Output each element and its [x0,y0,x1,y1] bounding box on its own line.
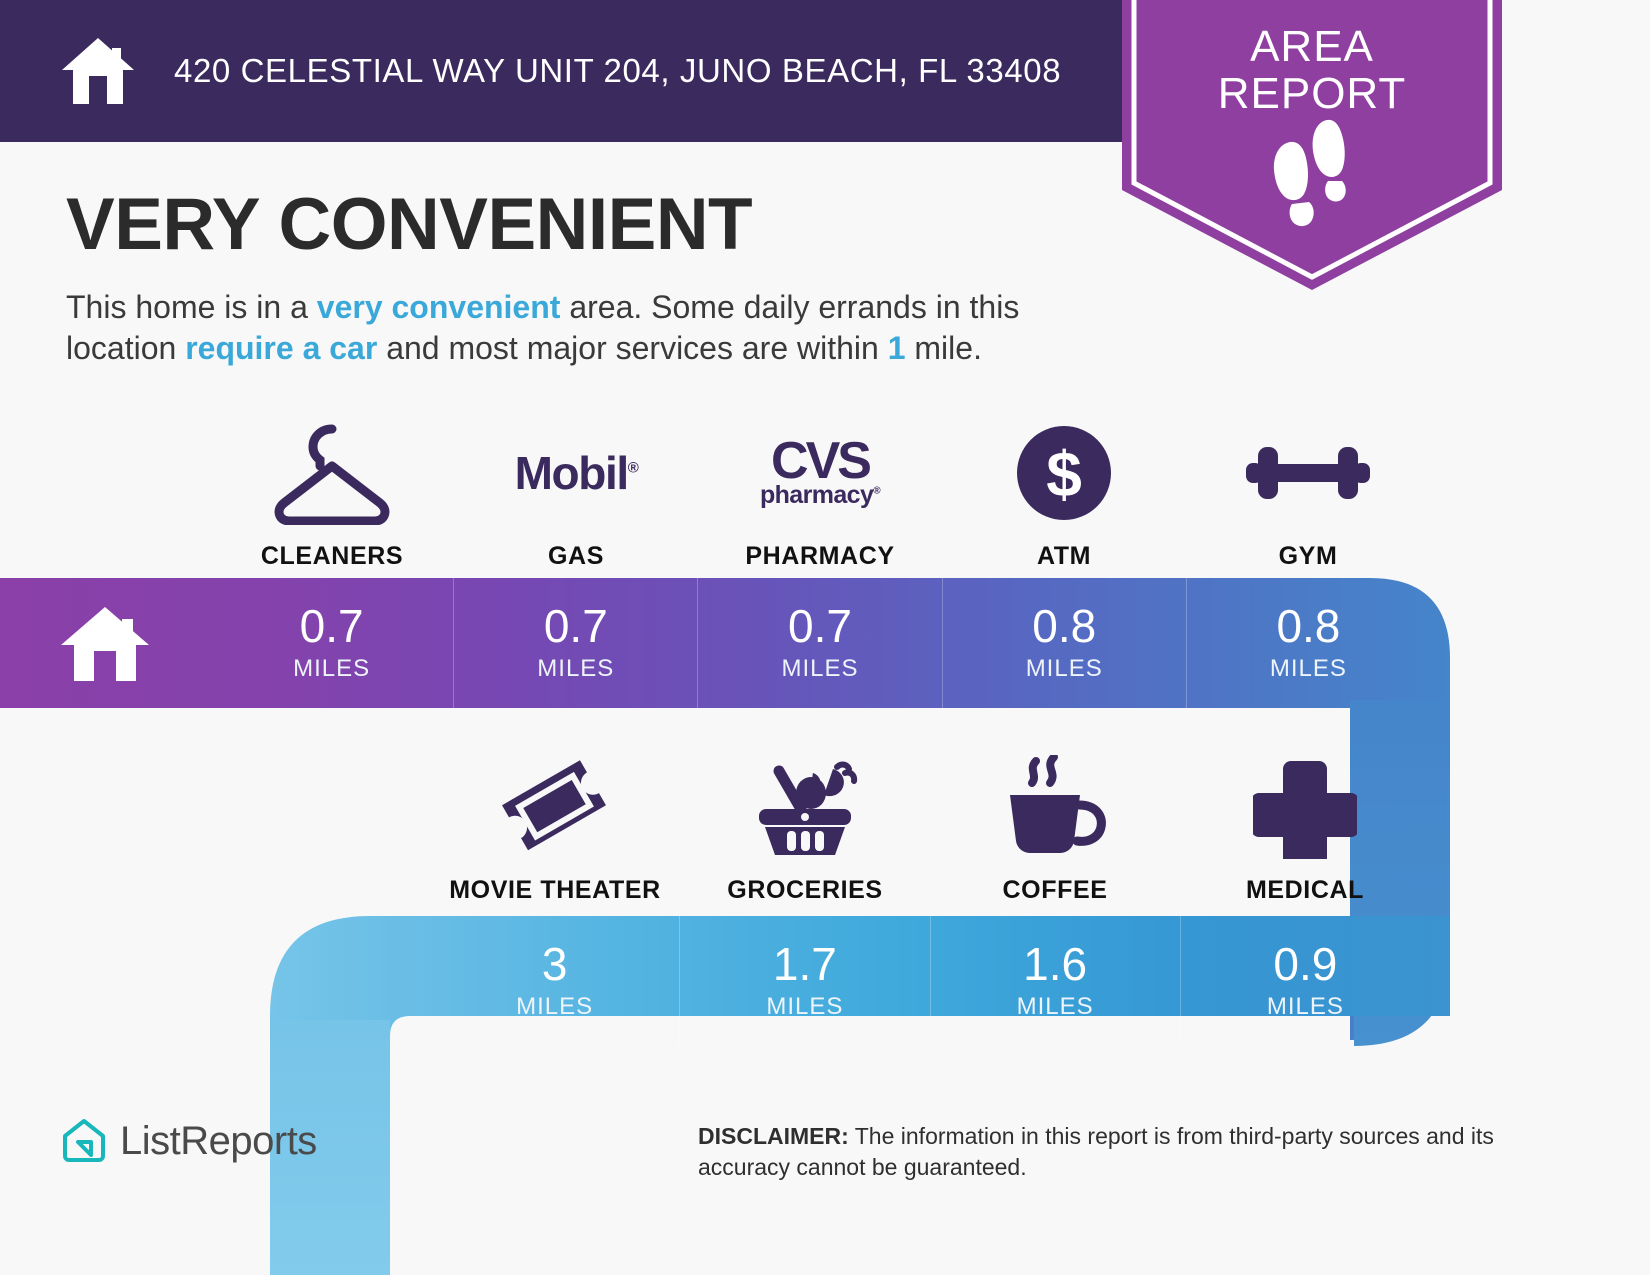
service-label: CLEANERS [261,542,403,571]
service-label: GROCERIES [727,876,882,905]
dumbbell-icon [1244,418,1372,528]
service-label: GYM [1279,542,1338,571]
service-label: ATM [1037,542,1091,571]
desc-highlight-2: require a car [185,330,377,366]
desc-text-1: This home is in a [66,289,317,325]
listreports-wordmark: ListReports [120,1119,317,1164]
ticket-icon [496,752,614,862]
disclaimer: DISCLAIMER: The information in this repo… [698,1121,1510,1182]
coffee-cup-icon [1000,752,1110,862]
mobil-logo: Mobil® [515,418,638,528]
mobil-wordmark: Mobil [515,447,628,499]
area-report-badge: AREA REPORT [1122,0,1502,294]
service-cell-gym[interactable]: GYM [1186,418,1430,571]
service-label: MEDICAL [1246,876,1364,905]
distance-cell: 0.7 MILES [453,578,697,708]
distance-value: 0.8 [1276,603,1340,649]
medical-cross-icon [1253,752,1357,862]
hanger-icon [268,418,396,528]
cvs-sub-wordmark: pharmacy [760,481,873,509]
distance-unit: MILES [781,655,858,683]
badge-line-1: AREA [1122,24,1502,71]
desc-highlight-3: 1 [888,330,906,366]
row2-icons: MOVIE THEATER GROCERIES [430,752,1430,905]
cvs-pharmacy-logo: CVS pharmacy® [760,418,880,528]
service-cell-movie-theater[interactable]: MOVIE THEATER [430,752,680,905]
desc-text-4: mile. [906,330,982,366]
page-title: VERY CONVENIENT [66,188,1126,261]
distance-cell: 1.7 MILES [679,916,929,1046]
home-marker-icon [59,603,151,683]
distance-unit: MILES [293,655,370,683]
desc-text-3: and most major services are within [377,330,887,366]
service-cell-coffee[interactable]: COFFEE [930,752,1180,905]
service-label: MOVIE THEATER [449,876,661,905]
distance-unit: MILES [1270,655,1347,683]
distance-cell: 1.6 MILES [930,916,1180,1046]
mobil-trademark: ® [628,460,638,477]
disclaimer-label: DISCLAIMER: [698,1123,849,1149]
row1-values: 0.7 MILES 0.7 MILES 0.7 MILES 0.8 MILES … [210,578,1430,708]
row1-icons: CLEANERS Mobil® GAS CVS pharmacy® PHARMA… [210,418,1430,571]
grocery-basket-icon [749,752,861,862]
listreports-house-icon [62,1118,106,1164]
distance-value: 0.8 [1032,603,1096,649]
distance-value: 0.7 [300,603,364,649]
distance-value: 0.7 [544,603,608,649]
badge-label: AREA REPORT [1122,24,1502,117]
service-cell-medical[interactable]: MEDICAL [1180,752,1430,905]
listreports-logo[interactable]: ListReports [62,1118,317,1164]
distance-unit: MILES [766,993,843,1021]
distance-unit: MILES [1026,655,1103,683]
distance-cell: 0.8 MILES [942,578,1186,708]
distance-unit: MILES [516,993,593,1021]
service-cell-pharmacy[interactable]: CVS pharmacy® PHARMACY [698,418,942,571]
distance-cell: 0.9 MILES [1180,916,1430,1046]
service-label: GAS [548,542,604,571]
property-address: 420 CELESTIAL WAY UNIT 204, JUNO BEACH, … [174,52,1061,90]
distance-value: 0.9 [1273,941,1337,987]
service-cell-atm[interactable]: $ ATM [942,418,1186,571]
distance-unit: MILES [1017,993,1094,1021]
distance-cell: 0.8 MILES [1186,578,1430,708]
distance-value: 3 [542,941,568,987]
service-cell-gas[interactable]: Mobil® GAS [454,418,698,571]
service-label: PHARMACY [745,542,894,571]
home-marker [0,578,210,708]
service-cell-cleaners[interactable]: CLEANERS [210,418,454,571]
distance-value: 1.6 [1023,941,1087,987]
service-label: COFFEE [1003,876,1108,905]
dollar-circle-icon: $ [1014,418,1114,528]
service-cell-groceries[interactable]: GROCERIES [680,752,930,905]
svg-text:$: $ [1046,438,1082,510]
distance-cell: 0.7 MILES [697,578,941,708]
header-bar: 420 CELESTIAL WAY UNIT 204, JUNO BEACH, … [0,0,1180,142]
distance-unit: MILES [1267,993,1344,1021]
home-icon [60,36,136,106]
distance-value: 0.7 [788,603,852,649]
distance-cell: 0.7 MILES [210,578,453,708]
hero-description: This home is in a very convenient area. … [66,287,1106,369]
row2-values: 3 MILES 1.7 MILES 1.6 MILES 0.9 MILES [430,916,1430,1046]
distance-cell: 3 MILES [430,916,679,1046]
badge-line-2: REPORT [1122,71,1502,118]
distance-unit: MILES [537,655,614,683]
desc-highlight-1: very convenient [317,289,561,325]
distance-value: 1.7 [773,941,837,987]
cvs-trademark: ® [873,486,880,497]
hero-section: VERY CONVENIENT This home is in a very c… [66,188,1126,369]
